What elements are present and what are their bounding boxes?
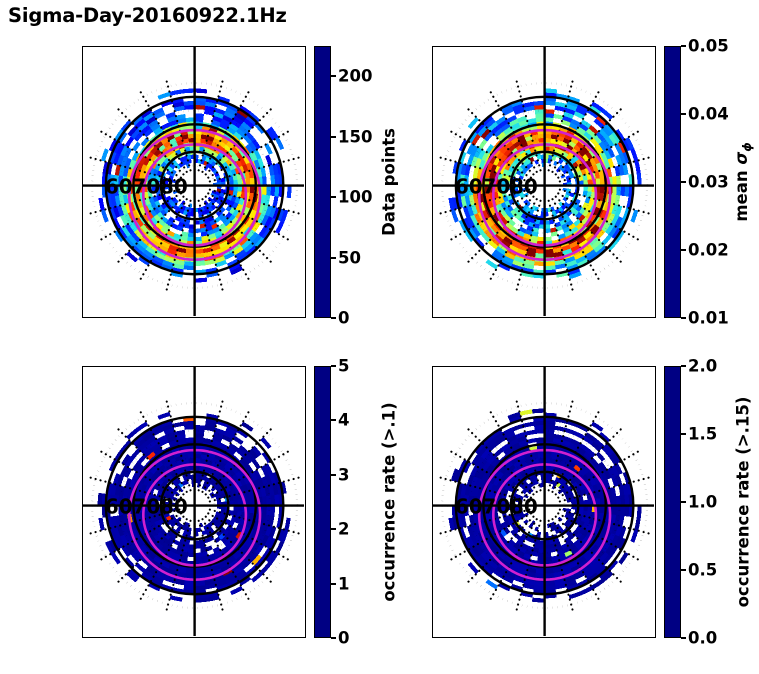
latitude-label-70: 70: [482, 175, 510, 199]
polar-axes-occurrence-rate-gt-0.1: 607080: [83, 367, 304, 636]
latitude-label-70: 70: [132, 175, 160, 199]
colorbar-label-occurrence-rate-gt-01: occurrence rate (>.1): [380, 402, 399, 601]
tick-mark-icon: [331, 257, 336, 259]
latitude-label-80: 80: [510, 175, 538, 199]
tick-mark-icon: [331, 637, 336, 639]
tick-mark-icon: [681, 365, 686, 367]
latitude-label-80: 80: [160, 175, 188, 199]
tick-mark-icon: [331, 317, 336, 319]
tick-mark-icon: [681, 249, 686, 251]
colorbar-tick-label: 0.5: [688, 561, 717, 580]
latitude-label-60: 60: [105, 175, 133, 199]
colorbar-tick-label: 5: [338, 357, 349, 376]
tick-mark-icon: [331, 75, 336, 77]
tick-mark-icon: [681, 45, 686, 47]
polar-plot-mean-sigma-phi[interactable]: 607080: [432, 46, 656, 318]
colorbar-data-points[interactable]: [314, 46, 331, 318]
tick-mark-icon: [681, 637, 686, 639]
colorbar-ticks-data-points: 050100150200: [331, 46, 421, 318]
tick-mark-icon: [331, 419, 336, 421]
colorbar-tick-label: 0.04: [688, 105, 729, 124]
colorbar-tick-label: 0: [338, 309, 349, 328]
colorbar-tick-label: 0.03: [688, 173, 729, 192]
polar-axes-data-points: 607080: [83, 47, 304, 316]
tick-mark-icon: [681, 181, 686, 183]
tick-mark-icon: [331, 474, 336, 476]
tick-mark-icon: [331, 583, 336, 585]
phi-subscript-symbol: ϕ: [740, 142, 754, 151]
colorbar-tick-label: 3: [338, 465, 349, 484]
colorbar-label-occurrence-rate-gt-015: occurrence rate (>.15): [734, 397, 753, 608]
polar-axes-occurrence-rate-gt-0.15: 607080: [433, 367, 654, 636]
colorbar-label-text: mean: [732, 165, 751, 222]
tick-mark-icon: [331, 196, 336, 198]
colorbar-tick-label: 2.0: [688, 357, 717, 376]
colorbar-label-data-points: Data points: [380, 128, 399, 236]
colorbar-tick-label: 0.02: [688, 241, 729, 260]
polar-plot-occurrence-rate-gt-015[interactable]: 607080: [432, 366, 656, 638]
tick-mark-icon: [331, 365, 336, 367]
colorbar-occurrence-rate-gt-01[interactable]: [314, 366, 331, 638]
tick-mark-icon: [681, 113, 686, 115]
figure-canvas: Sigma-Day-20160922.1Hz 607080 607080 607…: [0, 0, 759, 674]
colorbar-tick-label: 0: [338, 629, 349, 648]
colorbar-tick-label: 0.01: [688, 309, 729, 328]
colorbar-tick-label: 0.0: [688, 629, 717, 648]
latitude-label-80: 80: [510, 495, 538, 519]
colorbar-tick-label: 100: [338, 188, 372, 207]
colorbar-tick-label: 1.5: [688, 425, 717, 444]
polar-axes-mean-sigma-phi: 607080: [433, 47, 654, 316]
colorbar-tick-label: 1: [338, 574, 349, 593]
figure-title: Sigma-Day-20160922.1Hz: [8, 4, 287, 27]
colorbar-tick-label: 2: [338, 520, 349, 539]
colorbar-mean-sigma-phi[interactable]: [664, 46, 681, 318]
colorbar-tick-label: 50: [338, 248, 361, 267]
colorbar-occurrence-rate-gt-015[interactable]: [664, 366, 681, 638]
colorbar-tick-label: 0.05: [688, 37, 729, 56]
colorbar-tick-label: 4: [338, 411, 349, 430]
latitude-label-60: 60: [105, 495, 133, 519]
latitude-label-60: 60: [455, 175, 483, 199]
latitude-label-60: 60: [455, 495, 483, 519]
tick-mark-icon: [681, 317, 686, 319]
colorbar-label-mean-sigma-phi: mean σϕ: [732, 142, 754, 221]
colorbar-tick-label: 1.0: [688, 493, 717, 512]
tick-mark-icon: [681, 433, 686, 435]
polar-plot-data-points[interactable]: 607080: [82, 46, 306, 318]
tick-mark-icon: [331, 528, 336, 530]
coordinate-grid: 607080: [433, 47, 654, 316]
tick-mark-icon: [681, 501, 686, 503]
sigma-symbol: σ: [732, 152, 751, 165]
tick-mark-icon: [681, 569, 686, 571]
latitude-label-70: 70: [132, 495, 160, 519]
latitude-label-70: 70: [482, 495, 510, 519]
colorbar-tick-label: 150: [338, 127, 372, 146]
polar-plot-occurrence-rate-gt-01[interactable]: 607080: [82, 366, 306, 638]
colorbar-ticks-occurrence-rate-gt-01: 012345: [331, 366, 421, 638]
latitude-label-80: 80: [160, 495, 188, 519]
tick-mark-icon: [331, 136, 336, 138]
colorbar-tick-label: 200: [338, 67, 372, 86]
